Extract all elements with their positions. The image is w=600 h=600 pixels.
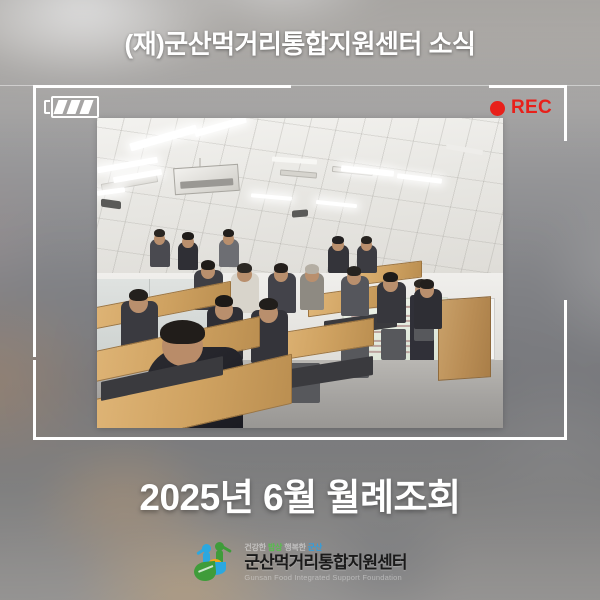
recording-indicator: REC — [490, 97, 552, 119]
record-dot-icon — [490, 101, 505, 116]
battery-bar — [53, 100, 67, 114]
organization-logo: 건강한 밥상 행복한 군산 군산먹거리통합지원센터 Gunsan Food In… — [0, 538, 600, 586]
logo-tagline-part: 군산 — [308, 543, 322, 552]
logo-organization-subname: Gunsan Food Integrated Support Foundatio… — [244, 573, 401, 582]
viewfinder-bracket-bottom-right — [279, 300, 567, 440]
logo-tagline-part: 행복한 — [282, 543, 308, 552]
event-subtitle: 2025년 6월 월례조회 — [0, 467, 600, 521]
battery-body-icon — [51, 96, 99, 118]
viewfinder-bracket-top-left — [33, 85, 291, 357]
battery-bar — [79, 100, 93, 114]
battery-terminal-icon — [44, 100, 50, 114]
logo-tagline: 건강한 밥상 행복한 군산 — [244, 542, 322, 553]
logo-tagline-part: 건강한 — [244, 543, 268, 552]
attendee-hair — [332, 236, 343, 244]
logo-figure-blue — [202, 544, 211, 553]
attendee-hair — [347, 266, 362, 276]
logo-leaf-icon — [193, 561, 217, 582]
attendee-hair — [305, 264, 319, 273]
logo-figure-green — [215, 542, 224, 551]
battery-bar — [66, 100, 80, 114]
logo-text-block: 건강한 밥상 행복한 군산 군산먹거리통합지원센터 Gunsan Food In… — [244, 542, 406, 582]
attendee-hair — [361, 236, 372, 244]
attendee-hair — [383, 272, 398, 282]
attendee-hair — [420, 279, 435, 289]
page-title-bar: (재)군산먹거리통합지원센터 소식 — [0, 0, 600, 85]
recording-label: REC — [511, 97, 552, 119]
viewfinder-bracket-bottom-left — [33, 360, 291, 440]
gunsan-food-center-logo-icon — [193, 540, 237, 584]
page-title: (재)군산먹거리통합지원센터 소식 — [125, 24, 476, 61]
battery-icon — [44, 96, 99, 118]
logo-tagline-part: 밥상 — [268, 543, 282, 552]
logo-organization-name: 군산먹거리통합지원센터 — [244, 554, 406, 572]
